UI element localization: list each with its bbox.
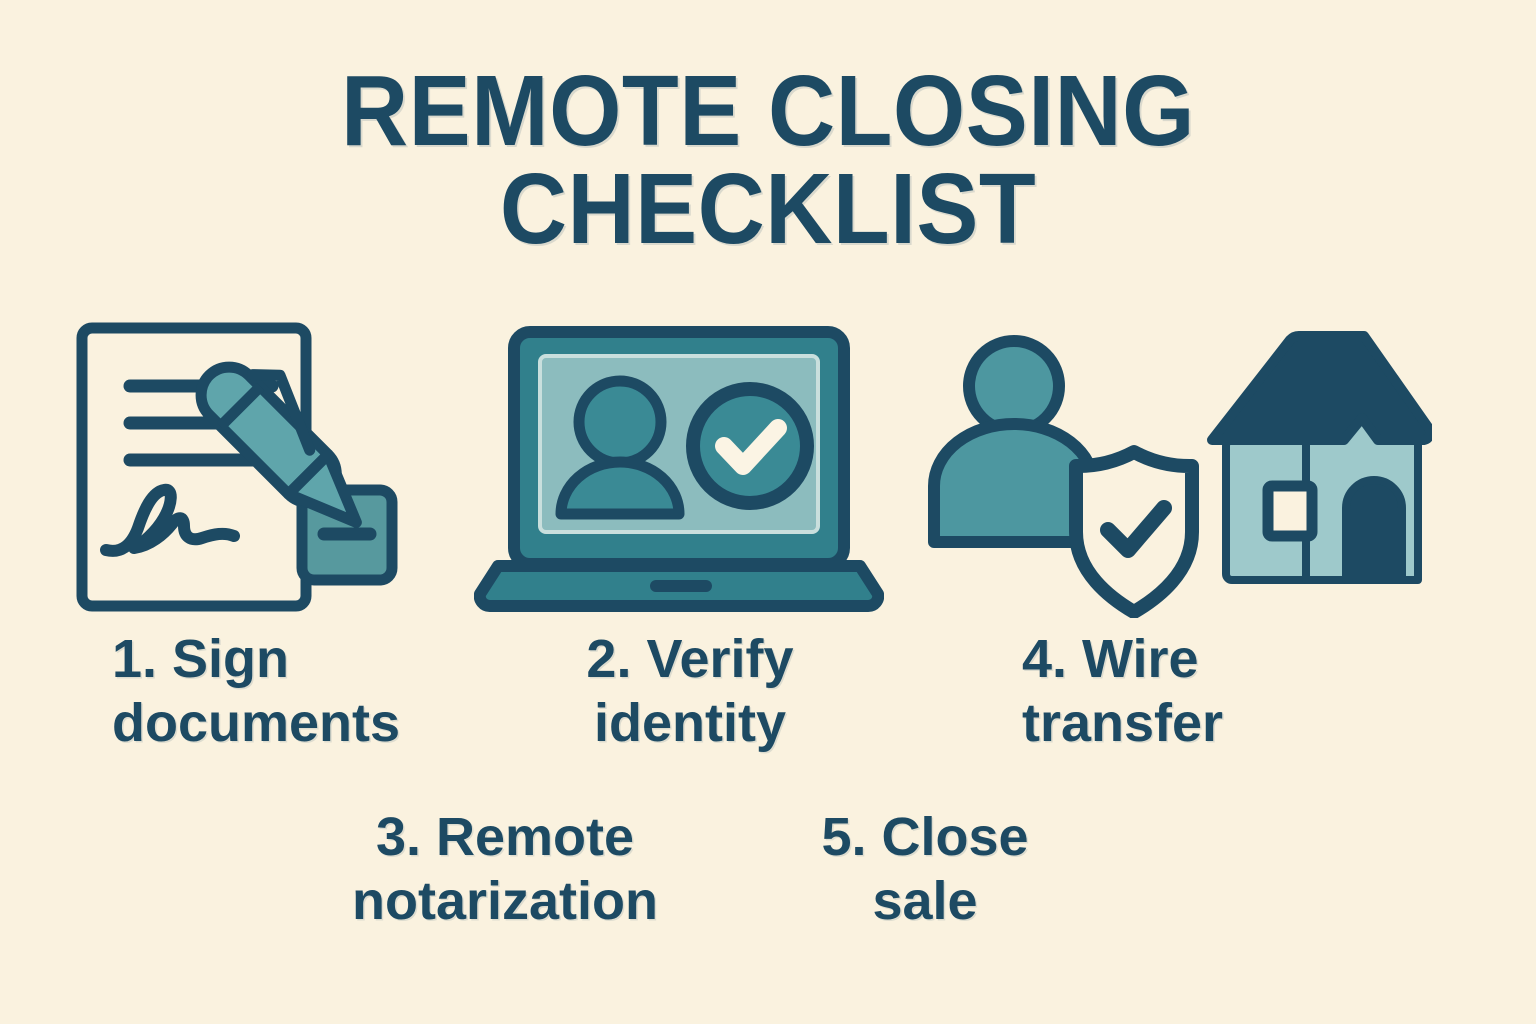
title-line-2: CHECKLIST [54,160,1482,258]
infographic-poster: REMOTE CLOSING CHECKLIST [0,0,1536,1024]
signed-document-pen-icon [68,318,408,618]
signed-document-pen-svg [68,318,408,618]
page-title: REMOTE CLOSING CHECKLIST [0,62,1536,258]
laptop-identity-svg [474,318,884,618]
title-line-1: REMOTE CLOSING [54,62,1482,160]
step-label-1: 1. Sign documents [112,628,442,755]
person-shield-house-svg [912,318,1432,618]
icon-row [0,318,1536,618]
step-label-3: 3. Remote notarization [330,806,680,933]
step-label-5: 5. Close sale [800,806,1050,933]
laptop-identity-verification-icon [474,318,884,618]
step-label-2: 2. Verify identity [540,628,840,755]
person-shield-house-icon [912,318,1432,618]
step-label-4: 4. Wire transfer [1022,628,1322,755]
